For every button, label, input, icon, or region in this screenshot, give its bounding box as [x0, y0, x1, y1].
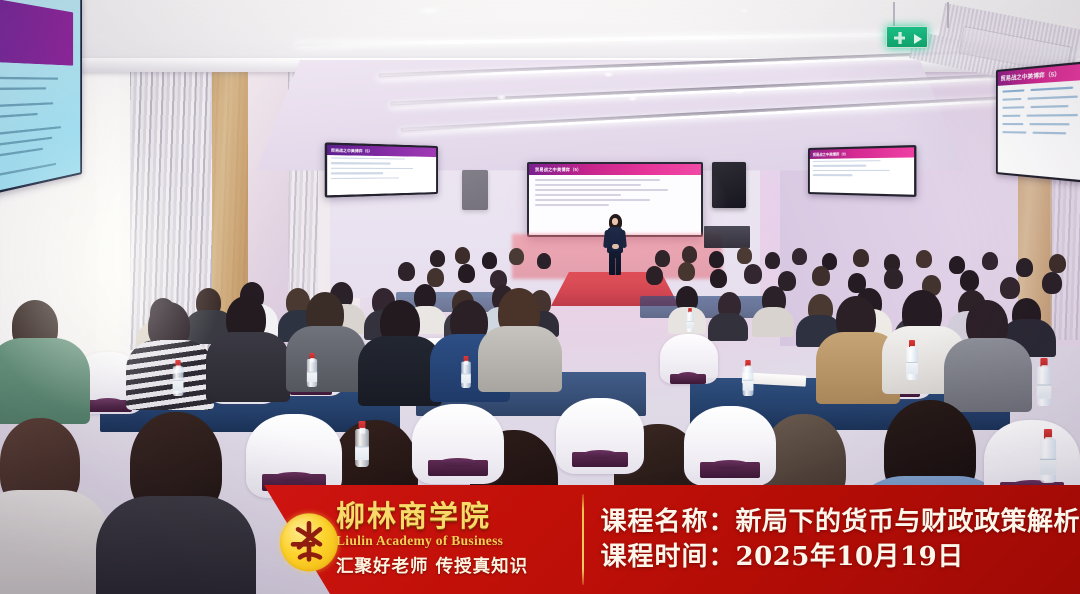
chair-sash — [670, 374, 706, 384]
exit-sign-rod-left — [893, 2, 895, 28]
right-far-slide-title: 贸易战之中美博弈（5） — [998, 69, 1061, 83]
left-mid-monitor: 贸易战之中美博弈（5） — [325, 142, 438, 197]
attendee-body — [126, 340, 214, 410]
presenter-face — [612, 218, 618, 225]
exit-arrow-icon — [914, 34, 922, 44]
right-far-monitor: 贸易战之中美博弈（5） — [996, 60, 1080, 183]
downlight-5 — [735, 89, 744, 94]
presenter-leg-gap — [615, 258, 617, 275]
presenter-arm-right — [620, 230, 627, 248]
water-bottle — [1040, 429, 1056, 483]
emergency-exit-icon — [886, 26, 928, 48]
presenter — [604, 214, 626, 278]
wall-speaker-left — [462, 170, 488, 210]
wall-speaker-right — [712, 162, 746, 208]
left-mid-slide-title: 贸易战之中美博弈（5） — [327, 147, 372, 154]
downlight-2 — [604, 72, 613, 77]
main-slide-title: 贸易战之中美博弈（5） — [529, 167, 581, 173]
conference-room-background: 贸易战之中美博弈（5） — [0, 0, 1080, 594]
water-bottle — [686, 308, 693, 332]
chair-sash — [1000, 482, 1064, 499]
left-mid-monitor-screen: 贸易战之中美博弈（5） — [327, 145, 436, 196]
downlight-1 — [418, 6, 440, 15]
downlight-3 — [497, 95, 506, 100]
chair-sash — [700, 462, 760, 478]
exit-sign-rod-right — [947, 2, 949, 28]
left-far-slide-header-block — [0, 0, 73, 66]
attendee-body — [0, 338, 90, 424]
water-bottle — [355, 421, 369, 467]
table-far-right — [640, 296, 770, 318]
chair-sash — [572, 452, 628, 467]
downlight-6 — [740, 8, 749, 13]
exit-running-man-icon — [894, 32, 905, 44]
water-bottle — [1037, 358, 1051, 406]
water-bottle — [461, 356, 471, 388]
downlight-4 — [628, 96, 637, 101]
right-far-monitor-screen: 贸易战之中美博弈（5） — [998, 63, 1080, 181]
left-far-monitor — [0, 0, 82, 197]
right-mid-monitor-screen: 贸易战之中美博弈（5） — [810, 147, 914, 194]
chair-sash — [84, 400, 132, 412]
water-bottle — [743, 360, 754, 396]
water-bottle — [307, 353, 317, 387]
main-slide-header: 贸易战之中美博弈（5） — [529, 164, 701, 175]
presenter-hands — [612, 244, 619, 249]
chair-sash — [428, 460, 488, 476]
right-mid-monitor: 贸易战之中美博弈（5） — [808, 145, 916, 197]
water-bottle — [906, 340, 918, 380]
left-far-monitor-screen — [0, 0, 80, 193]
water-bottle — [173, 360, 184, 396]
attendee-body — [478, 326, 562, 392]
podium-table — [704, 226, 750, 248]
seminar-photo-with-lower-third: 贸易战之中美博弈（5） — [0, 0, 1080, 594]
right-mid-slide-title: 贸易战之中美博弈（5） — [810, 151, 848, 157]
attendee-body — [96, 496, 256, 594]
attendee-head — [332, 420, 418, 518]
chair-sash — [262, 474, 326, 491]
attendee-body — [286, 326, 366, 392]
attendee-body — [0, 490, 110, 594]
attendee-body — [944, 338, 1032, 412]
attendee-body — [206, 332, 290, 402]
